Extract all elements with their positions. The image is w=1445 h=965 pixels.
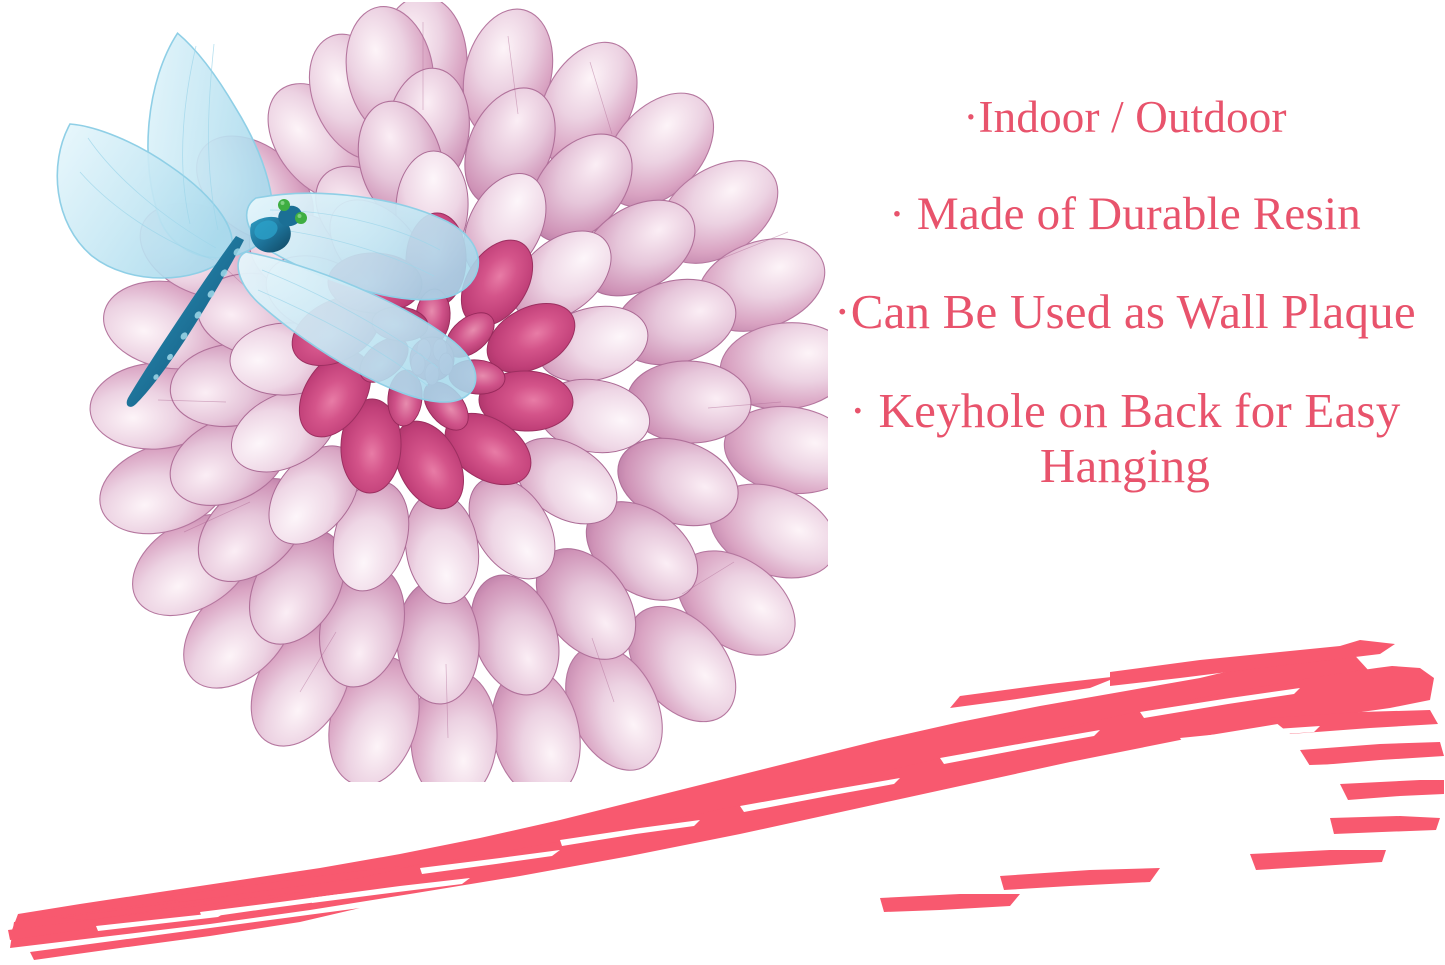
feature-item-durable-resin: · Made of Durable Resin (820, 188, 1430, 241)
dragonfly-eye-left (278, 199, 290, 211)
brush-stroke-banner (0, 630, 1445, 965)
product-image-canvas: ·Indoor / Outdoor · Made of Durable Resi… (0, 0, 1445, 965)
feature-item-keyhole-hanging: · Keyhole on Back for Easy Hanging (820, 384, 1430, 494)
feature-bullet-list: ·Indoor / Outdoor · Made of Durable Resi… (820, 92, 1430, 494)
feature-item-indoor-outdoor: ·Indoor / Outdoor (820, 92, 1430, 142)
feature-item-wall-plaque: ·Can Be Used as Wall Plaque (820, 285, 1430, 340)
dragonfly-eye-right (295, 212, 307, 224)
